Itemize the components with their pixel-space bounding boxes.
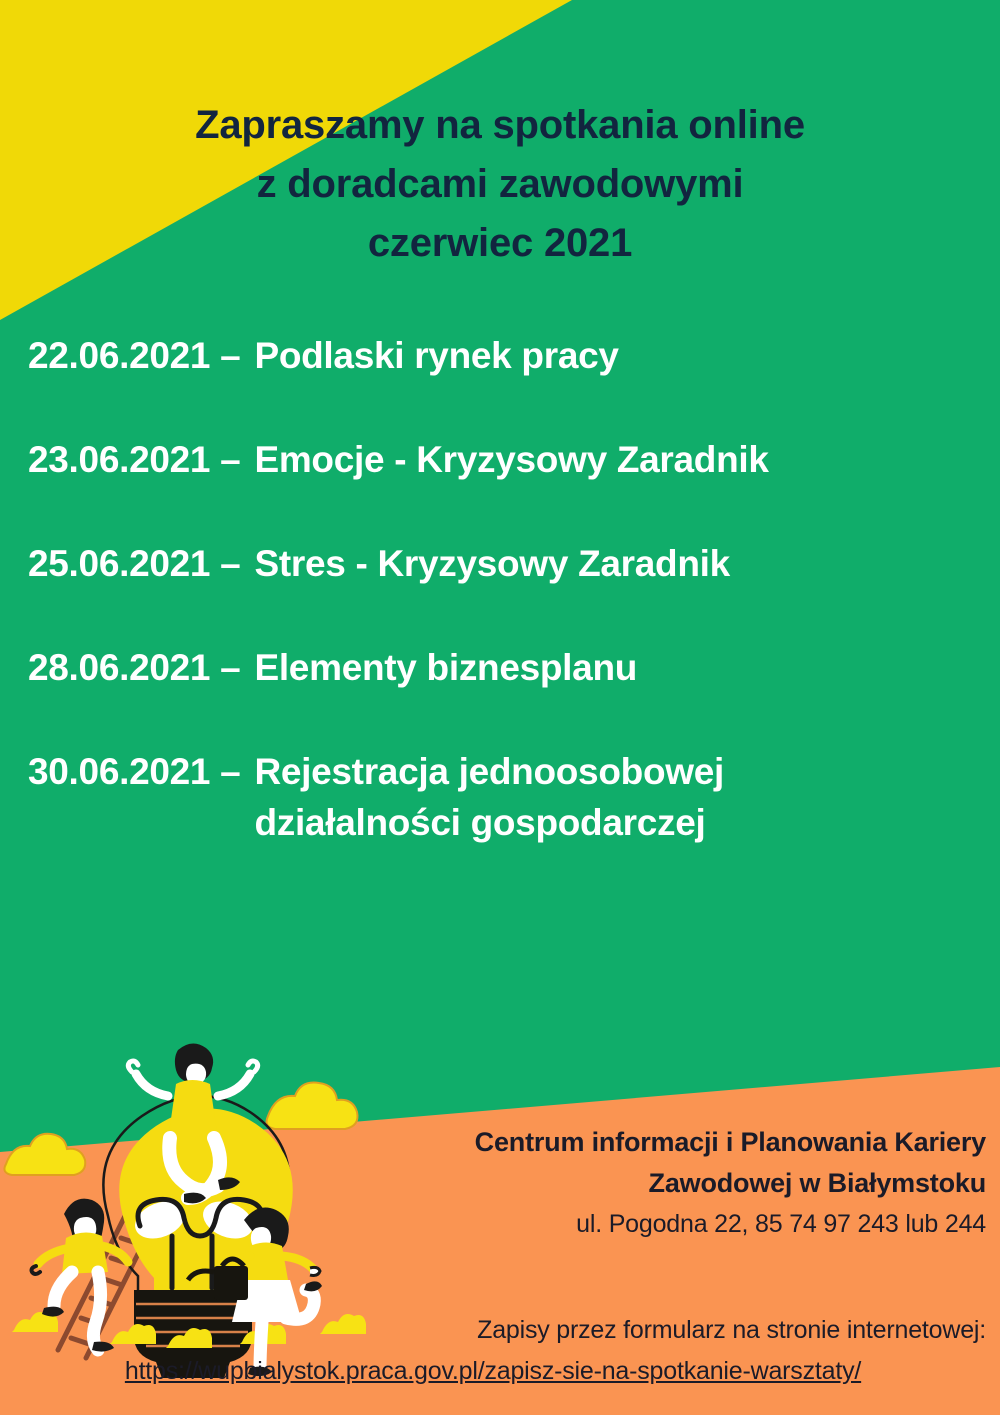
cloud-icon xyxy=(4,1134,85,1175)
page-title: Zapraszamy na spotkania online z doradca… xyxy=(0,96,1000,273)
signup-url-link[interactable]: https://wupbialystok.praca.gov.pl/zapisz… xyxy=(0,1353,986,1389)
meeting-date: 25.06.2021 – xyxy=(28,538,254,589)
contact-block: Centrum informacji i Planowania Kariery … xyxy=(336,1122,986,1242)
organization-name-line-1: Centrum informacji i Planowania Kariery xyxy=(336,1122,986,1163)
organization-name-line-2: Zawodowej w Białymstoku xyxy=(336,1163,986,1204)
list-item: 30.06.2021 – Rejestracja jednoosobowej d… xyxy=(28,746,980,848)
signup-label: Zapisy przez formularz na stronie intern… xyxy=(477,1316,986,1344)
meeting-date: 28.06.2021 – xyxy=(28,642,254,693)
list-item: 22.06.2021 – Podlaski rynek pracy xyxy=(28,330,980,381)
poster-canvas: Zapraszamy na spotkania online z doradca… xyxy=(0,0,1000,1415)
meeting-date: 23.06.2021 – xyxy=(28,434,254,485)
title-line-2: z doradcami zawodowymi xyxy=(0,155,1000,214)
title-line-1: Zapraszamy na spotkania online xyxy=(0,96,1000,155)
signup-block: Zapisy przez formularz na stronie intern… xyxy=(0,1312,986,1389)
list-item: 25.06.2021 – Stres - Kryzysowy Zaradnik xyxy=(28,538,980,589)
list-item: 28.06.2021 – Elementy biznesplanu xyxy=(28,642,980,693)
list-item: 23.06.2021 – Emocje - Kryzysowy Zaradnik xyxy=(28,434,980,485)
title-line-3: czerwiec 2021 xyxy=(0,214,1000,273)
address-and-phone: ul. Pogodna 22, 85 74 97 243 lub 244 xyxy=(336,1206,986,1242)
meeting-schedule-list: 22.06.2021 – Podlaski rynek pracy 23.06.… xyxy=(28,330,980,901)
meeting-topic: Rejestracja jednoosobowej działalności g… xyxy=(254,746,894,848)
meeting-topic: Podlaski rynek pracy xyxy=(254,330,894,381)
meeting-date: 30.06.2021 – xyxy=(28,746,254,797)
meeting-date: 22.06.2021 – xyxy=(28,330,254,381)
meeting-topic: Stres - Kryzysowy Zaradnik xyxy=(254,538,894,589)
meeting-topic: Emocje - Kryzysowy Zaradnik xyxy=(254,434,894,485)
meeting-topic: Elementy biznesplanu xyxy=(254,642,894,693)
